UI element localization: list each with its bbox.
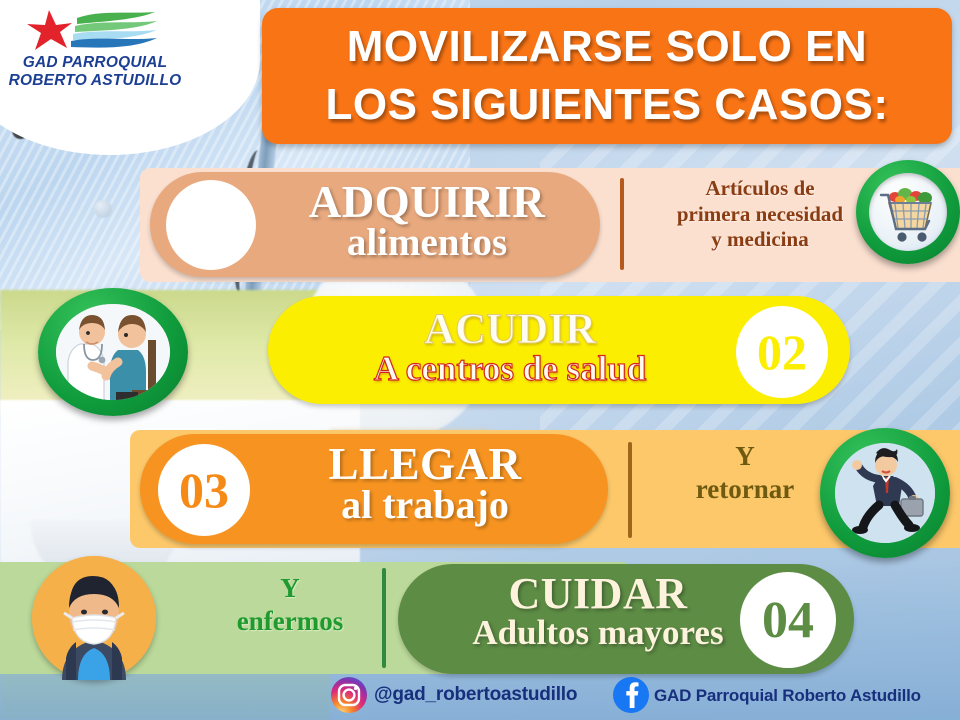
item-3-icon-inner (835, 443, 935, 543)
logo-plaque: GAD PARROQUIAL ROBERTO ASTUDILLO (0, 0, 260, 155)
item-2-text: ACUDIR A centros de salud (300, 308, 720, 387)
item-1-detail-line1: Artículos de (705, 176, 814, 200)
item-3-subject: al trabajo (260, 485, 590, 526)
item-4-divider (382, 568, 386, 668)
logo-text-line1: GAD PARROQUIAL (23, 54, 168, 71)
item-4-subject: Adultos mayores (418, 615, 778, 651)
header-title-line1: MOVILIZARSE SOLO EN (347, 18, 867, 76)
item-4-detail: Y enfermos (190, 572, 390, 638)
item-1-number-badge: 01 (166, 180, 256, 270)
instagram-handle[interactable]: @gad_robertoastudillo (374, 684, 577, 706)
header-title-line2: LOS SIGUIENTES CASOS: (325, 76, 888, 134)
header-title-bar: MOVILIZARSE SOLO EN LOS SIGUIENTES CASOS… (262, 8, 952, 144)
item-3-divider (628, 442, 632, 538)
item-2-number-badge: 02 (736, 306, 828, 398)
background-button-light (94, 200, 112, 218)
item-2-action: ACUDIR (300, 308, 720, 352)
item-4-action: CUIDAR (418, 572, 778, 617)
item-3-detail: Y retornar (645, 440, 845, 506)
item-1-detail-line2: primera necesidad (677, 202, 843, 226)
facebook-page-name[interactable]: GAD Parroquial Roberto Astudillo (654, 686, 921, 706)
item-1-action: ADQUIRIR (262, 180, 592, 226)
item-1-detail-line3: y medicina (711, 227, 808, 251)
item-1-icon-inner (869, 173, 947, 251)
item-4-detail-line2: enfermos (237, 606, 343, 636)
logo-text-line2: ROBERTO ASTUDILLO (9, 72, 182, 89)
item-3-action: LLEGAR (260, 442, 590, 488)
facebook-icon[interactable] (612, 676, 650, 714)
item-1-detail: Artículos de primera necesidad y medicin… (640, 176, 880, 253)
item-1-divider (620, 178, 624, 270)
item-3-text: LLEGAR al trabajo (260, 442, 590, 526)
poster-canvas: GAD PARROQUIAL ROBERTO ASTUDILLO MOVILIZ… (0, 0, 960, 720)
masked-person-icon (32, 556, 156, 680)
item-4-detail-line1: Y (280, 573, 300, 603)
item-3-number-badge: 03 (158, 444, 250, 536)
shopping-cart-groceries-icon (856, 160, 960, 264)
item-4-text: CUIDAR Adultos mayores (418, 572, 778, 651)
item-1-text: ADQUIRIR alimentos (262, 180, 592, 263)
item-1-subject: alimentos (262, 223, 592, 263)
item-2-subject: A centros de salud (300, 351, 720, 387)
item-4-number-badge: 04 (740, 572, 836, 668)
instagram-icon[interactable] (330, 676, 368, 714)
logo-inner: GAD PARROQUIAL ROBERTO ASTUDILLO (0, 8, 230, 148)
running-businessman-briefcase-icon (820, 428, 950, 558)
item-2-icon-inner (56, 304, 170, 400)
gad-star-waves-logo-icon (15, 8, 175, 56)
item-3-detail-line2: retornar (696, 474, 794, 504)
doctor-patient-checkup-icon (38, 288, 188, 416)
logo-text: GAD PARROQUIAL ROBERTO ASTUDILLO (0, 54, 200, 89)
item-3-detail-line1: Y (735, 441, 755, 471)
